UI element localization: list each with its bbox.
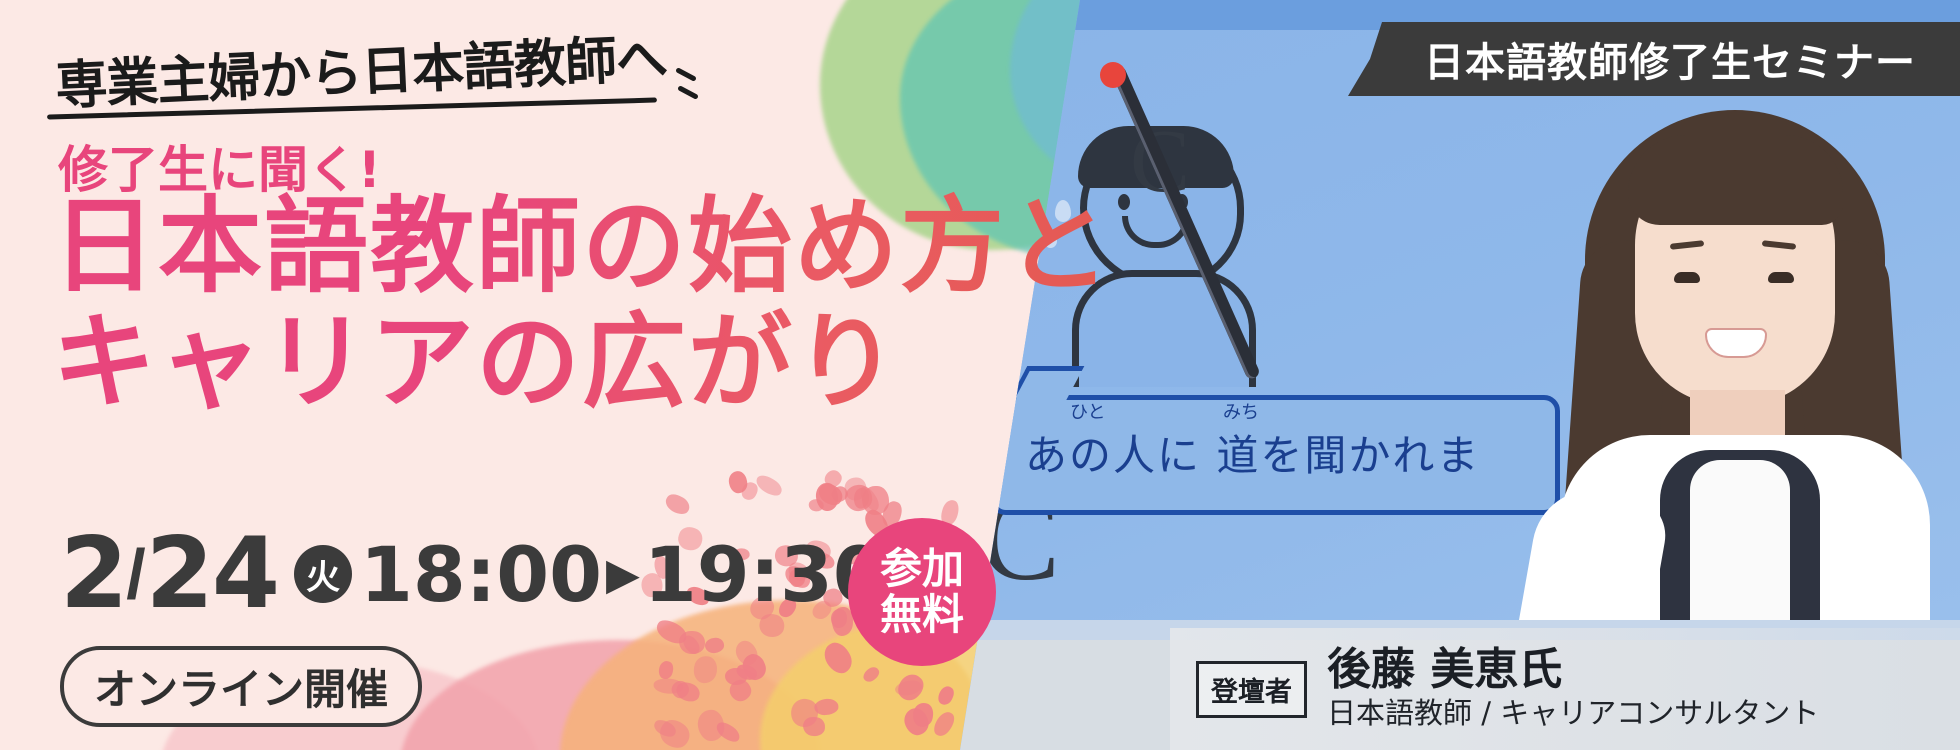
speaker-name: 後藤 美恵氏 xyxy=(1327,647,1819,693)
schedule-slash: / xyxy=(126,534,145,614)
seminar-banner: C C ひと みち あの人に 道を聞かれま xyxy=(0,0,1960,750)
free-badge-line-2: 無料 xyxy=(880,592,964,638)
schedule-day: 24 xyxy=(146,525,278,623)
free-badge-line-1: 参加 xyxy=(880,546,964,592)
schedule-bar: 2 / 24 火 18:00 ▶ 19:30 xyxy=(60,525,886,623)
seminar-ribbon-label: 日本語教師修了生セミナー xyxy=(1424,30,1916,88)
speaker-strip: 登壇者 後藤 美恵氏 日本語教師 / キャリアコンサルタント xyxy=(1170,628,1960,750)
speaker-tag: 登壇者 xyxy=(1196,661,1307,718)
title-line-1: 日本語教師の始め方と xyxy=(52,188,1112,304)
schedule-start-time: 18:00 xyxy=(360,530,602,619)
speaker-role: 日本語教師 / キャリアコンサルタント xyxy=(1327,696,1819,731)
furigana-michi: みち xyxy=(1223,398,1259,424)
free-admission-badge: 参加 無料 xyxy=(848,518,996,666)
online-format-pill: オンライン開催 xyxy=(60,646,422,727)
seminar-ribbon: 日本語教師修了生セミナー xyxy=(1348,22,1960,96)
speaker-info: 後藤 美恵氏 日本語教師 / キャリアコンサルタント xyxy=(1327,647,1819,732)
handwritten-lead: 専業主婦から日本語教師へ xyxy=(55,30,735,105)
page-title: 日本語教師の始め方と キャリアの広がり xyxy=(52,188,1112,421)
accent-ticks-icon xyxy=(675,68,709,104)
schedule-arrow-icon: ▶ xyxy=(606,549,640,600)
pointer-stick-tip xyxy=(1100,62,1126,88)
schedule-weekday-badge: 火 xyxy=(294,545,352,603)
bubble-sentence: あの人に 道を聞かれま xyxy=(1025,422,1480,483)
title-line-2: キャリアの広がり xyxy=(52,304,1112,420)
schedule-month: 2 xyxy=(60,525,126,623)
